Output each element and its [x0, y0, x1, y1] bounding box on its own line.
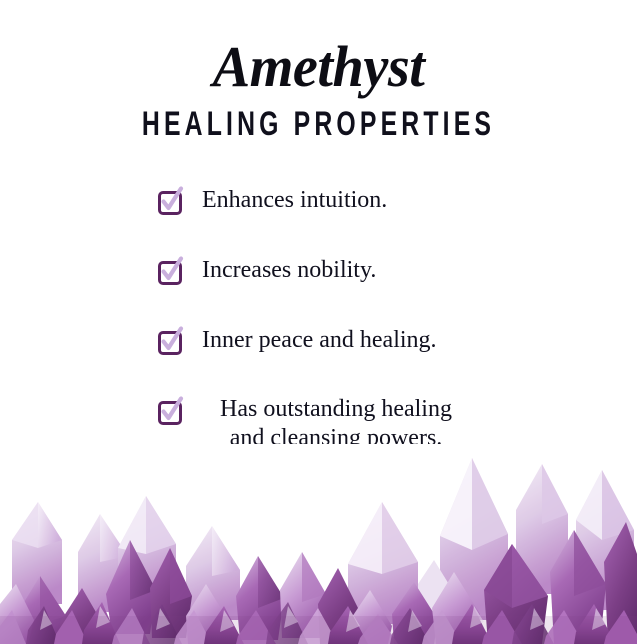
list-item-label: Inner peace and healing. [180, 325, 578, 355]
checkbox-box [158, 261, 182, 285]
poster-canvas: Amethyst HEALING PROPERTIES Enhances int… [0, 0, 637, 644]
list-item[interactable]: Inner peace and healing. [158, 325, 578, 361]
list-item[interactable]: Enhances intuition. [158, 185, 578, 221]
checkbox-checked-icon[interactable] [158, 191, 180, 213]
page-title: Amethyst [10, 36, 628, 98]
list-item-label: Increases nobility. [180, 255, 578, 285]
checkbox-box [158, 191, 182, 215]
list-item-label-line1: Has outstanding healing [191, 395, 481, 424]
checkbox-box [158, 401, 182, 425]
checkbox-checked-icon[interactable] [158, 331, 180, 353]
checkbox-box [158, 331, 182, 355]
list-item[interactable]: Increases nobility. [158, 255, 578, 291]
title-block: Amethyst HEALING PROPERTIES [0, 36, 637, 139]
page-subtitle: HEALING PROPERTIES [64, 105, 574, 143]
list-item-label: Enhances intuition. [180, 185, 578, 215]
checkbox-checked-icon[interactable] [158, 401, 180, 423]
amethyst-crystal-cluster-image [0, 444, 637, 644]
checkbox-checked-icon[interactable] [158, 261, 180, 283]
